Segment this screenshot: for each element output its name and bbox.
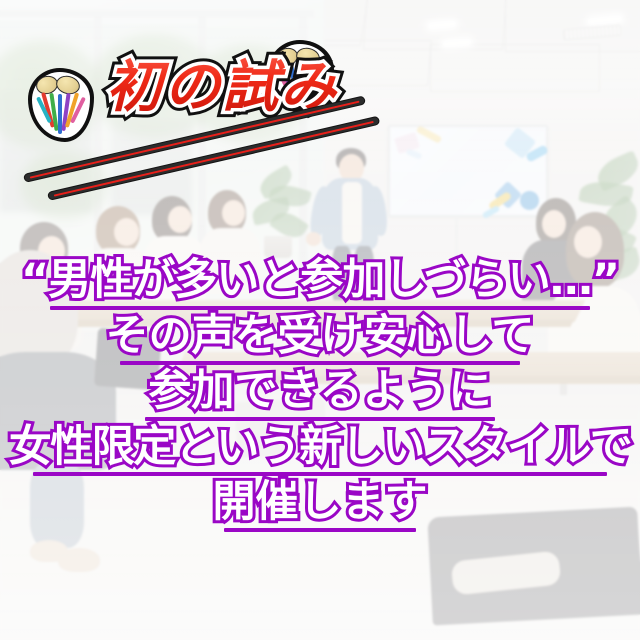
poster-canvas: 初の試み 初の試み 初の試み “男性が多いと参加しづらい…” その声を受け安心し… bbox=[0, 0, 640, 640]
headline-line: 女性限定という新しいスタイルで bbox=[0, 425, 640, 477]
headline-line-text: “男性が多いと参加しづらい…” bbox=[21, 258, 619, 304]
headline-line-text: その声を受け安心して bbox=[106, 314, 535, 360]
headline-line-text: 女性限定という新しいスタイルで bbox=[9, 425, 632, 471]
headline-line: その声を受け安心して bbox=[0, 314, 640, 366]
headline-underline bbox=[120, 361, 520, 365]
headline-line-text: 開催します bbox=[213, 480, 428, 526]
headline-line: 参加できるように bbox=[0, 369, 640, 421]
headline-line: “男性が多いと参加しづらい…” bbox=[0, 258, 640, 310]
headline-block: “男性が多いと参加しづらい…” その声を受け安心して 参加できるように 女性限定… bbox=[0, 258, 640, 536]
headline-underline bbox=[224, 528, 416, 532]
headline-underline bbox=[33, 472, 607, 476]
headline-line: 開催します bbox=[0, 480, 640, 532]
headline-underline bbox=[145, 417, 495, 421]
headline-line-text: 参加できるように bbox=[148, 369, 491, 415]
kusudama-confetti-icon bbox=[28, 68, 94, 142]
headline-underline bbox=[50, 306, 590, 310]
